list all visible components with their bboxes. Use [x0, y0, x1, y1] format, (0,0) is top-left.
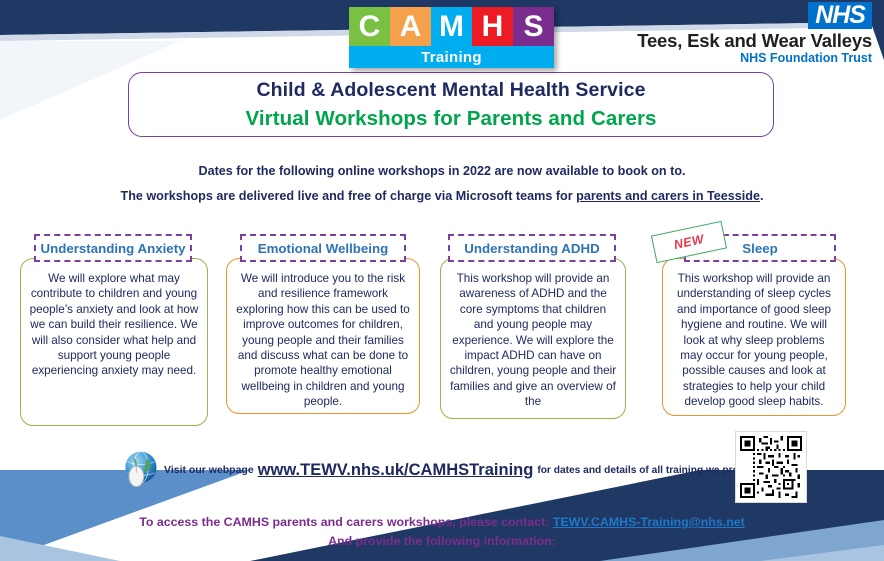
card-header-wellbeing: Emotional Wellbeing: [240, 234, 406, 262]
camhs-letter-h: H: [472, 7, 513, 46]
card-title-sleep: Sleep: [742, 241, 777, 256]
workshop-subtitle: Virtual Workshops for Parents and Carers: [245, 107, 656, 131]
camhs-logo: C A M H S Training: [349, 7, 554, 68]
nhs-foundation-label: NHS Foundation Trust: [637, 51, 872, 65]
webpage-prefix-text: Visit our webpage: [164, 464, 254, 476]
qr-code-graphic: [740, 436, 802, 498]
card-body-adhd: This workshop will provide an awareness …: [440, 258, 626, 419]
intro-line-2-underlined: parents and carers in Teesside: [576, 189, 760, 203]
intro-line-2-post: .: [760, 189, 764, 203]
footer-contact-line: To access the CAMHS parents and carers w…: [0, 515, 884, 529]
right-navy-sliver: [870, 0, 884, 60]
footer-email-link[interactable]: TEWV.CAMHS-Training@nhs.net: [553, 515, 745, 529]
intro-line-1: Dates for the following online workshops…: [0, 164, 884, 178]
footer-instruction-line: And provide the following information:: [0, 534, 884, 548]
workshop-card-adhd[interactable]: This workshop will provide an awareness …: [436, 234, 633, 419]
card-description-wellbeing: We will introduce you to the risk and re…: [235, 271, 411, 410]
webpage-row: Visit our webpage www.TEWV.nhs.uk/CAMHST…: [118, 448, 759, 492]
camhs-letter-a: A: [390, 7, 431, 46]
title-box: Child & Adolescent Mental Health Service…: [128, 72, 774, 137]
intro-line-2: The workshops are delivered live and fre…: [0, 189, 884, 203]
card-description-sleep: This workshop will provide an understand…: [671, 271, 837, 410]
nhs-trust-name: Tees, Esk and Wear Valleys: [637, 31, 872, 51]
new-badge-label: NEW: [673, 232, 706, 252]
card-description-anxiety: We will explore what may contribute to c…: [29, 271, 199, 379]
card-header-anxiety: Understanding Anxiety: [34, 234, 192, 262]
workshop-card-wellbeing[interactable]: We will introduce you to the risk and re…: [222, 234, 424, 414]
card-body-anxiety: We will explore what may contribute to c…: [20, 258, 208, 426]
webpage-suffix-text: for dates and details of all training we…: [537, 465, 759, 476]
card-title-adhd: Understanding ADHD: [464, 241, 599, 256]
nhs-logo-block: NHS Tees, Esk and Wear Valleys NHS Found…: [637, 2, 872, 65]
webpage-url-link[interactable]: www.TEWV.nhs.uk/CAMHSTraining: [258, 461, 534, 480]
card-description-adhd: This workshop will provide an awareness …: [449, 271, 617, 410]
camhs-letter-m: M: [431, 7, 472, 46]
card-body-sleep: This workshop will provide an understand…: [662, 258, 846, 416]
intro-line-2-pre: The workshops are delivered live and fre…: [121, 189, 577, 203]
footer-contact-text: To access the CAMHS parents and carers w…: [139, 515, 553, 529]
workshop-card-anxiety[interactable]: We will explore what may contribute to c…: [12, 234, 212, 426]
camhs-training-label: Training: [349, 46, 554, 68]
poster-canvas: C A M H S Training NHS Tees, Esk and Wea…: [0, 0, 884, 561]
qr-code[interactable]: [736, 432, 806, 502]
card-title-anxiety: Understanding Anxiety: [40, 241, 185, 256]
workshop-card-sleep[interactable]: This workshop will provide an understand…: [652, 234, 856, 416]
footer-block: To access the CAMHS parents and carers w…: [0, 515, 884, 548]
service-title: Child & Adolescent Mental Health Service: [256, 79, 645, 102]
camhs-letter-c: C: [349, 7, 390, 46]
card-title-wellbeing: Emotional Wellbeing: [258, 241, 389, 256]
globe-mouse-icon: [118, 448, 162, 492]
card-body-wellbeing: We will introduce you to the risk and re…: [226, 258, 420, 414]
card-header-adhd: Understanding ADHD: [448, 234, 616, 262]
camhs-letter-row: C A M H S: [349, 7, 554, 46]
intro-block: Dates for the following online workshops…: [0, 164, 884, 203]
camhs-letter-s: S: [513, 7, 554, 46]
nhs-badge: NHS: [808, 2, 872, 29]
